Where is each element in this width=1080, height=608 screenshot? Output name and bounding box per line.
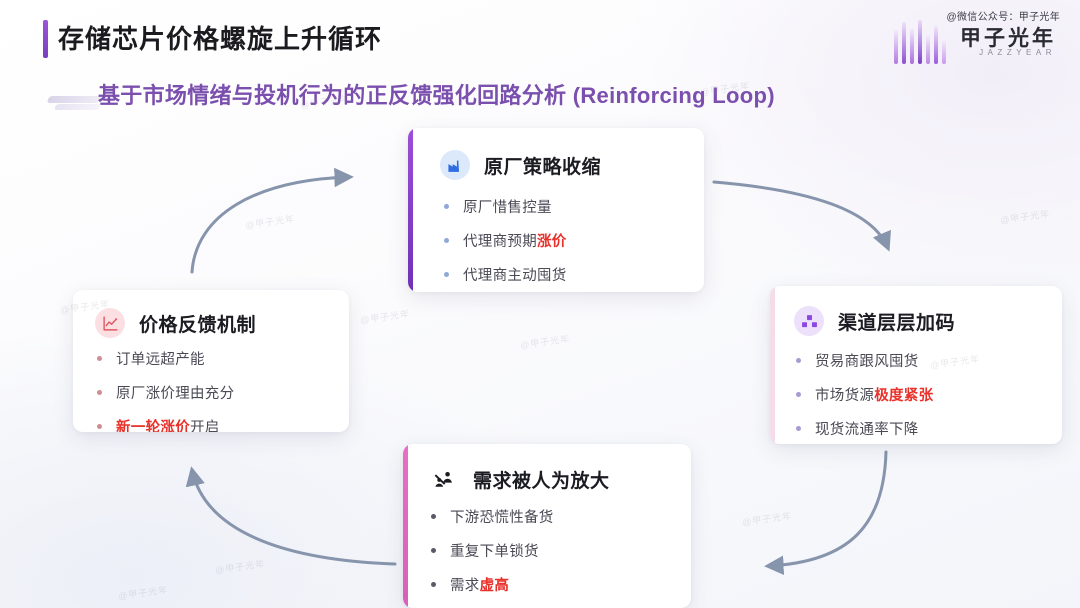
arrow-left-to-top bbox=[192, 177, 350, 272]
bullet-dot bbox=[444, 204, 449, 209]
bullet-text: 代理商预期 bbox=[463, 230, 537, 251]
arrow-bottom-to-left bbox=[192, 470, 395, 564]
users-icon bbox=[429, 464, 459, 494]
list-item: 市场货源极度紧张 bbox=[796, 384, 933, 405]
list-item: 下游恐慌性备货 bbox=[431, 506, 554, 527]
bullet-dot bbox=[97, 390, 102, 395]
bullet-dot bbox=[431, 514, 436, 519]
bullet-text: 需求 bbox=[450, 574, 480, 595]
card-demand-amplified[interactable]: 需求被人为放大 下游恐慌性备货 重复下单锁货 需求虚高 bbox=[403, 444, 691, 608]
list-item: 新一轮涨价 开启 bbox=[97, 416, 234, 432]
boxes-icon bbox=[794, 306, 824, 336]
card-header: 原厂策略收缩 bbox=[440, 150, 601, 180]
card-title: 原厂策略收缩 bbox=[484, 152, 601, 179]
bullet-dot bbox=[444, 238, 449, 243]
bullet-text: 下游恐慌性备货 bbox=[450, 506, 554, 527]
bullet-text: 代理商主动囤货 bbox=[463, 264, 567, 285]
bullet-dot bbox=[796, 392, 801, 397]
arrow-top-to-right bbox=[714, 182, 888, 248]
card-header: 渠道层层加码 bbox=[794, 306, 955, 336]
card-bullet-list: 订单远超产能 原厂涨价理由充分 新一轮涨价 开启 bbox=[97, 348, 234, 432]
bullet-text: 现货流通率下降 bbox=[815, 418, 919, 439]
card-header: 价格反馈机制 bbox=[95, 308, 256, 338]
list-item: 重复下单锁货 bbox=[431, 540, 554, 561]
bullet-text: 订单远超产能 bbox=[116, 348, 205, 369]
card-bullet-list: 原厂惜售控量 代理商预期涨价 代理商主动囤货 bbox=[444, 196, 567, 285]
bullet-highlight: 虚高 bbox=[480, 574, 510, 595]
card-bullet-list: 下游恐慌性备货 重复下单锁货 需求虚高 bbox=[431, 506, 554, 595]
bullet-text: 原厂涨价理由充分 bbox=[116, 382, 234, 403]
card-title: 价格反馈机制 bbox=[139, 310, 256, 337]
card-title: 需求被人为放大 bbox=[473, 466, 610, 493]
list-item: 原厂涨价理由充分 bbox=[97, 382, 234, 403]
bullet-highlight: 极度紧张 bbox=[874, 384, 933, 405]
list-item: 现货流通率下降 bbox=[796, 418, 933, 439]
bullet-text: 开启 bbox=[190, 416, 220, 432]
list-item: 代理商预期涨价 bbox=[444, 230, 567, 251]
card-channel-stacking[interactable]: 渠道层层加码 贸易商跟风囤货 市场货源极度紧张 现货流通率下降 bbox=[770, 286, 1062, 444]
bullet-dot bbox=[431, 582, 436, 587]
card-price-feedback[interactable]: 价格反馈机制 订单远超产能 原厂涨价理由充分 新一轮涨价 开启 bbox=[73, 290, 349, 432]
bullet-text: 原厂惜售控量 bbox=[463, 196, 552, 217]
bullet-highlight: 新一轮涨价 bbox=[116, 416, 190, 432]
bullet-dot bbox=[97, 356, 102, 361]
bullet-dot bbox=[796, 358, 801, 363]
list-item: 代理商主动囤货 bbox=[444, 264, 567, 285]
list-item: 需求虚高 bbox=[431, 574, 554, 595]
chart-line-icon bbox=[95, 308, 125, 338]
bullet-text: 贸易商跟风囤货 bbox=[815, 350, 919, 371]
bullet-dot bbox=[97, 424, 102, 429]
card-original-factory-strategy[interactable]: 原厂策略收缩 原厂惜售控量 代理商预期涨价 代理商主动囤货 bbox=[408, 128, 704, 292]
card-header: 需求被人为放大 bbox=[429, 464, 610, 494]
list-item: 贸易商跟风囤货 bbox=[796, 350, 933, 371]
bullet-highlight: 涨价 bbox=[537, 230, 567, 251]
bullet-dot bbox=[444, 272, 449, 277]
card-bullet-list: 贸易商跟风囤货 市场货源极度紧张 现货流通率下降 bbox=[796, 350, 933, 439]
bullet-text: 市场货源 bbox=[815, 384, 874, 405]
list-item: 订单远超产能 bbox=[97, 348, 234, 369]
arrow-right-to-bottom bbox=[768, 452, 886, 566]
bullet-dot bbox=[796, 426, 801, 431]
card-title: 渠道层层加码 bbox=[838, 308, 955, 335]
factory-icon bbox=[440, 150, 470, 180]
list-item: 原厂惜售控量 bbox=[444, 196, 567, 217]
bullet-dot bbox=[431, 548, 436, 553]
bullet-text: 重复下单锁货 bbox=[450, 540, 539, 561]
